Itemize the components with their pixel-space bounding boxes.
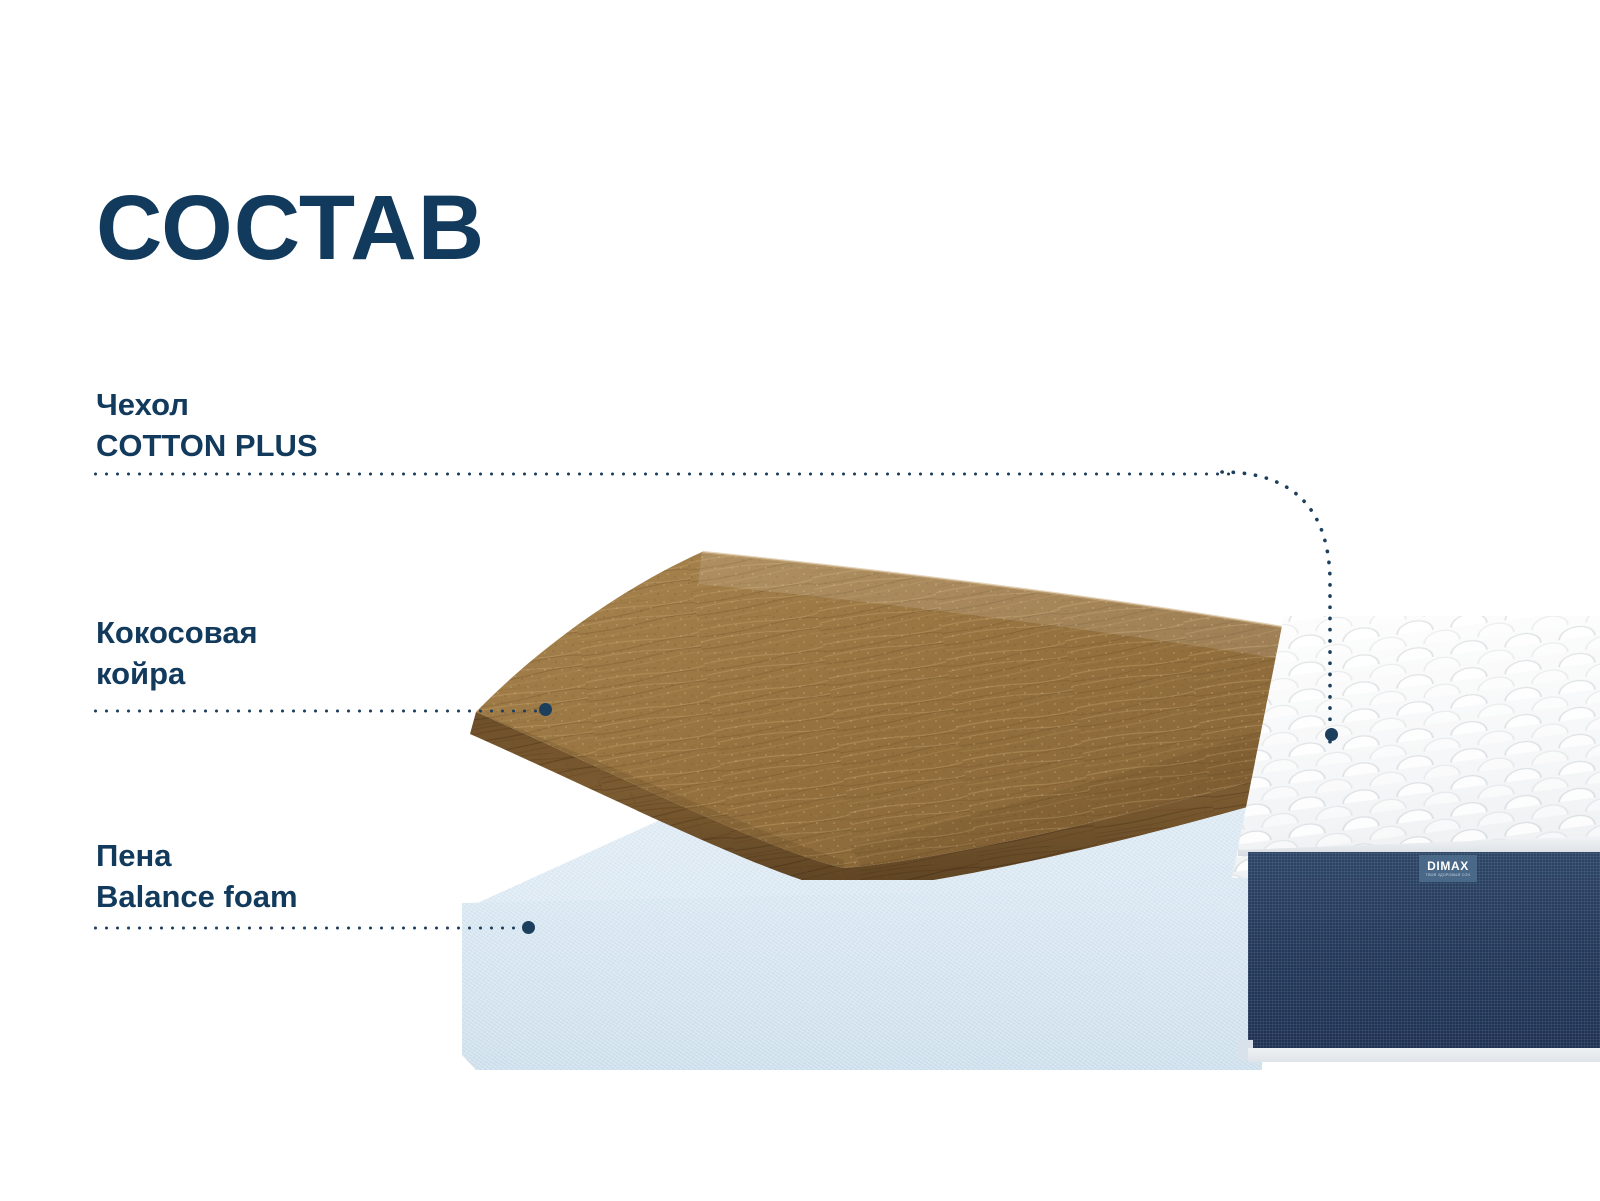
- callout-cover-line2: COTTON PLUS: [96, 426, 318, 467]
- brand-tagline: ТВОЙ ЗДОРОВЫЙ СОН: [1426, 874, 1471, 877]
- side-band-foot-corner: [1237, 1040, 1253, 1060]
- dimax-logo-badge[interactable]: DIMAX ТВОЙ ЗДОРОВЫЙ СОН: [1419, 855, 1477, 882]
- leader-endpoint-coir: [539, 703, 552, 716]
- balance-foam-front-face: [462, 885, 1262, 1070]
- brand-name: DIMAX: [1427, 860, 1469, 872]
- coir-ridge-highlight: [702, 552, 1300, 630]
- callout-foam-line2: Balance foam: [96, 877, 298, 918]
- leader-line-foam: [90, 926, 530, 930]
- leader-endpoint-foam: [522, 921, 535, 934]
- coir-loose-fibers: [510, 735, 1262, 880]
- coir-edge-fibers: [470, 712, 1300, 880]
- mattress-side-band: [1248, 852, 1600, 1058]
- callout-foam: Пена Balance foam: [96, 836, 298, 918]
- balance-foam-top-face: [462, 760, 1522, 990]
- callout-cover: Чехол COTTON PLUS: [96, 385, 318, 467]
- side-band-foot-trim: [1248, 1048, 1600, 1062]
- leader-endpoint-cover: [1325, 728, 1338, 741]
- coir-top-surface: [440, 530, 1300, 880]
- infographic-canvas: СОСТАВ: [0, 0, 1600, 1201]
- callout-foam-line1: Пена: [96, 836, 298, 877]
- callout-coir-line1: Кокосовая: [96, 613, 258, 654]
- foam-texture: [462, 760, 1522, 990]
- page-title: СОСТАВ: [96, 182, 485, 274]
- cotton-plus-cover-edge: [1238, 836, 1600, 856]
- coconut-coir-sheet: [440, 530, 1300, 880]
- callout-coir-line2: койра: [96, 654, 258, 695]
- leader-line-cover-curve: [1220, 466, 1350, 746]
- leader-line-coir: [90, 709, 545, 713]
- quilt-pattern: [1232, 616, 1600, 878]
- foam-texture: [462, 885, 1262, 1070]
- quilt-pattern-offset: [1232, 616, 1600, 878]
- callout-coir: Кокосовая койра: [96, 613, 258, 695]
- callout-cover-line1: Чехол: [96, 385, 318, 426]
- leader-line-cover: [90, 472, 1238, 476]
- coir-cut-edge: [470, 712, 1300, 880]
- cotton-plus-cover-top: [1232, 616, 1600, 878]
